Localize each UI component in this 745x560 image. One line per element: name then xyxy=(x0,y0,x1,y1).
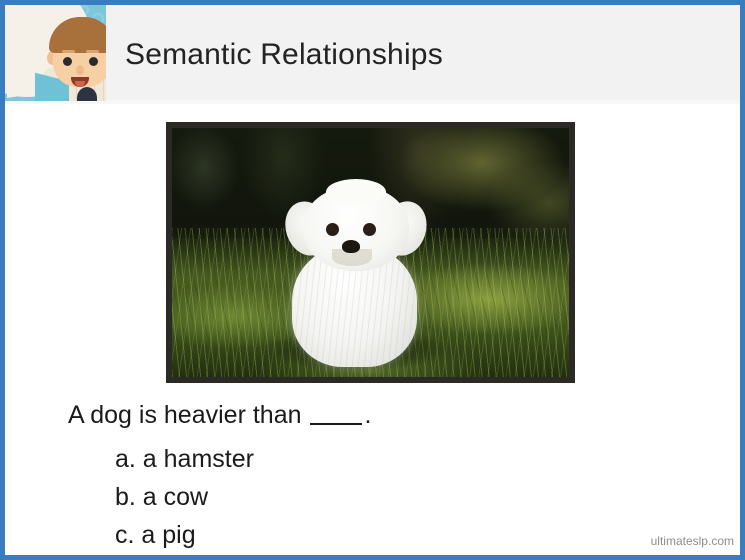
page-title: Semantic Relationships xyxy=(125,38,443,72)
question-blank xyxy=(310,423,362,425)
answer-options-list: a. a hamster b. a cow c. a pig xyxy=(115,440,254,554)
white-puppy xyxy=(283,183,426,367)
slide: Semantic Relationships xyxy=(0,0,745,560)
header-divider xyxy=(5,100,740,104)
puppy-eye-left xyxy=(326,223,339,236)
avatar-eyebrow-right xyxy=(86,50,99,53)
question-suffix: . xyxy=(364,401,371,429)
question-prompt: A dog is heavier than . xyxy=(68,401,371,430)
puppy-photo xyxy=(172,128,569,377)
avatar-eye-left xyxy=(63,57,72,66)
avatar-nose xyxy=(76,65,84,75)
watermark: ultimateslp.com xyxy=(651,534,734,548)
answer-option-c[interactable]: c. a pig xyxy=(115,516,254,554)
question-prefix: A dog is heavier than xyxy=(68,401,302,429)
avatar-eye-right xyxy=(89,57,98,66)
puppy-topknot xyxy=(326,179,386,205)
answer-option-a[interactable]: a. a hamster xyxy=(115,440,254,478)
answer-option-b[interactable]: b. a cow xyxy=(115,478,254,516)
puppy-nose xyxy=(342,240,361,253)
avatar-eyebrow-left xyxy=(62,50,75,53)
puppy-photo-frame xyxy=(166,122,575,383)
speech-therapy-boy-avatar xyxy=(5,5,106,101)
